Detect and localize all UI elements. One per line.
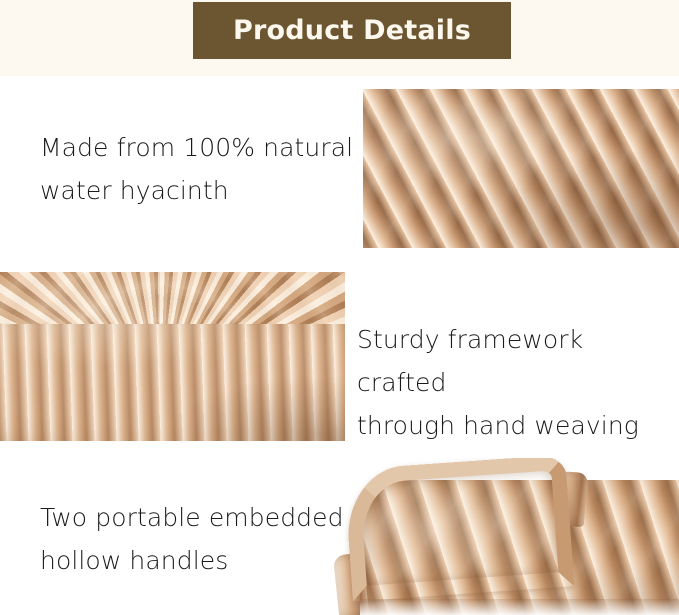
feature-image-material [363,89,679,248]
header-band: Product Details [0,0,679,76]
feature-image-construction [0,272,345,441]
feature-text-material: Made from 100% natural water hyacinth [40,126,370,212]
title-banner: Product Details [193,2,511,59]
photo-shading [0,272,345,441]
product-details-infographic: Product Details Made from 100% natural w… [0,0,679,615]
photo-bottom-edge [360,599,679,615]
page-title: Product Details [233,15,471,46]
feature-text-handles: Two portable embedded hollow handles [40,496,370,582]
hollow-handle-arc [344,458,575,602]
photo-shading [363,89,679,248]
feature-text-construction: Sturdy framework crafted through hand we… [357,318,677,447]
feature-image-handles [330,458,679,615]
